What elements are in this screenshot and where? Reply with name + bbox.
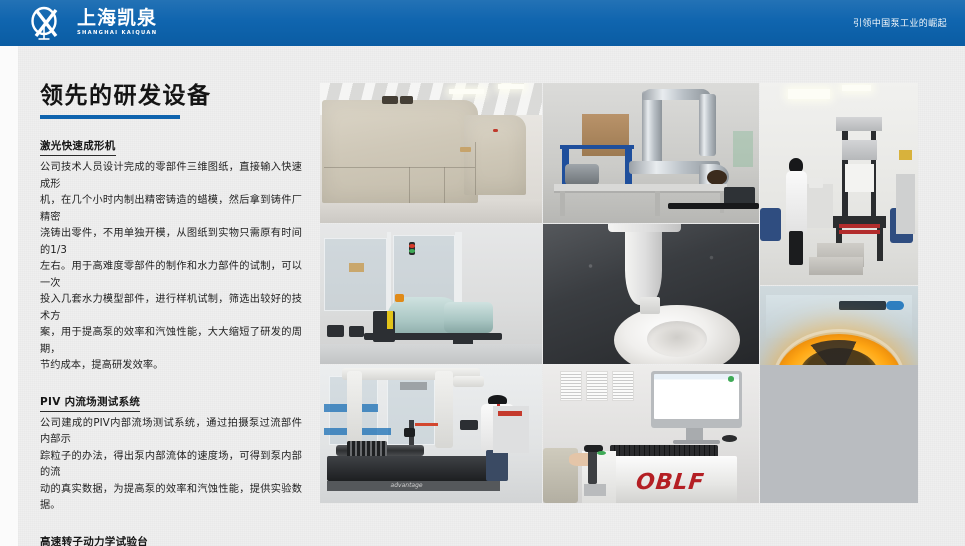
oblf-brand-label: OBLF [635,470,706,495]
section-high-speed-rotor-dynamics-test-bench: 高速转子动力学试验台 利用ANSYS等软件进行核电、火电、石化等领域用泵的泵结构… [40,530,302,546]
photo-cmm-measuring-shaft[interactable]: advantage [320,365,542,503]
brand-name-en: SHANGHAI KAIQUAN [77,31,157,36]
kaiquan-logo-icon [30,6,70,40]
site-header: 上海凯泉 SHANGHAI KAIQUAN 引领中国泵工业的崛起 [0,0,965,46]
brand-name-cn: 上海凯泉 [77,9,157,28]
section-line: 左右。用于高难度零部件的制作和水力部件的试制，可以一次 [40,259,302,292]
section-line: 投入几套水力模型部件，进行样机试制，筛选出较好的技术方 [40,292,302,325]
header-slogan: 引领中国泵工业的崛起 [853,16,947,29]
section-line: 节约成本，提高研发效率。 [40,358,302,375]
section-line: 案，用于提高泵的效率和汽蚀性能，大大缩短了研发的周期， [40,325,302,358]
content-column: 领先的研发设备 激光快速成形机 公司技术人员设计完成的零部件三维图纸，直接输入快… [40,46,302,546]
section-laser-rapid-prototyping: 激光快速成形机 公司技术人员设计完成的零部件三维图纸，直接输入快速成形 机，在几… [40,134,302,374]
section-line: 动的真实数据，为提高泵的效率和汽蚀性能，提供实验数据。 [40,482,302,515]
photo-operator-instrument[interactable] [760,365,918,503]
section-body: 公司建成的PIV内部流场测试系统，通过拍摄泵过流部件内部示 踪粒子的办法，得出泵… [40,416,302,515]
photo-piping-test-rig[interactable] [543,83,759,223]
photo-oblf-spectrometer[interactable]: OBLF [543,365,759,503]
section-piv-flow-field-test-system: PIV 内流场测试系统 公司建成的PIV内部流场测试系统，通过拍摄泵过流部件内部… [40,390,302,515]
section-line: 公司技术人员设计完成的零部件三维图纸，直接输入快速成形 [40,160,302,193]
brand-wordmark: 上海凯泉 SHANGHAI KAIQUAN [77,9,157,36]
title-underline-rule [40,115,180,119]
left-gutter [0,46,18,546]
photo-grid: advantage [320,83,918,503]
photo-rapid-prototyping-machine[interactable] [320,83,542,223]
page-title: 领先的研发设备 [40,83,302,109]
section-heading: PIV 内流场测试系统 [40,395,140,412]
section-line: 公司建成的PIV内部流场测试系统，通过拍摄泵过流部件内部示 [40,416,302,449]
photo-rotor-dynamics-rig[interactable] [320,224,542,364]
section-line: 踪粒子的办法，得出泵内部流体的速度场，可得到泵内部的流 [40,449,302,482]
section-body: 公司技术人员设计完成的零部件三维图纸，直接输入快速成形 机，在几个小时内制出精密… [40,160,302,375]
photo-impeller-on-granite[interactable] [543,224,759,364]
brand-logo[interactable]: 上海凯泉 SHANGHAI KAIQUAN [30,6,157,40]
section-line: 浇铸出零件，不用单独开模，从图纸到实物只需原有时间的1/3 [40,226,302,259]
section-heading: 激光快速成形机 [40,139,116,156]
photo-universal-testing-machine[interactable] [760,83,918,285]
page-body: 领先的研发设备 激光快速成形机 公司技术人员设计完成的零部件三维图纸，直接输入快… [0,46,965,546]
section-heading: 高速转子动力学试验台 [40,535,148,546]
section-line: 机，在几个小时内制出精密铸造的蜡模，然后拿到铸件厂精密 [40,193,302,226]
